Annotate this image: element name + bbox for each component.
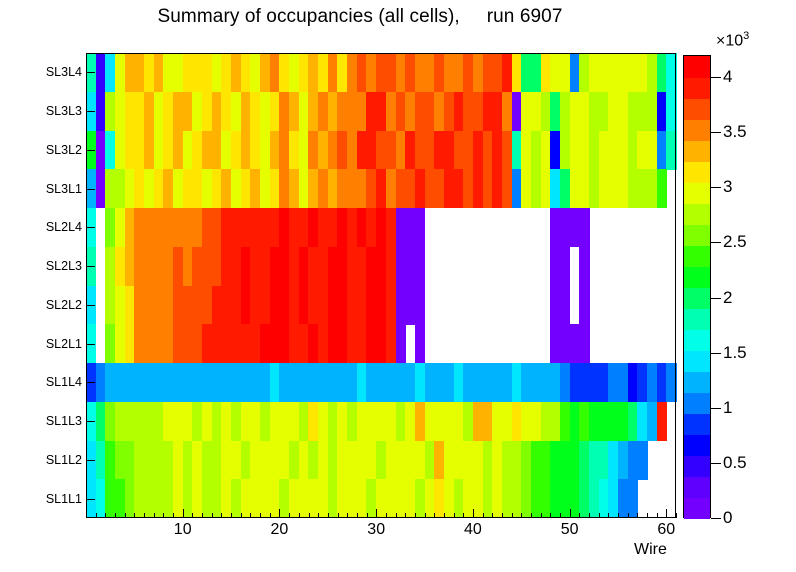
color-scale-tick [711,463,721,464]
y-axis-label: SL2L2 [46,298,82,312]
color-scale-band [684,435,710,457]
x-axis-tick [183,509,184,518]
color-scale-band [684,456,710,478]
color-scale-band [684,372,710,394]
heatmap-cell [657,169,667,208]
x-axis-tick [357,513,358,518]
y-axis-tick [86,72,95,73]
y-axis-label: SL2L1 [46,337,82,351]
color-scale-band [684,330,710,352]
x-axis-tick [144,513,145,518]
x-axis-tick [628,513,629,518]
color-scale-tick-label: 2.5 [723,232,747,252]
color-scale-band [684,224,710,246]
x-axis-tick [105,513,106,518]
y-axis-tick [86,499,95,500]
x-axis-title: Wire [634,541,667,559]
x-axis-tick [396,513,397,518]
y-axis-label: SL3L1 [46,182,82,196]
x-axis-tick [299,513,300,518]
y-axis-label: SL3L2 [46,143,82,157]
x-axis-tick [531,513,532,518]
color-scale-tick-label: 1.5 [723,343,747,363]
color-scale-tick [711,353,721,354]
color-scale-band [684,98,710,120]
x-axis-tick [637,513,638,518]
y-axis-label: SL3L4 [46,65,82,79]
x-axis-tick [415,513,416,518]
x-axis-tick [521,513,522,518]
x-axis-tick [608,513,609,518]
y-axis-tick [86,150,95,151]
heatmap-plot[interactable] [86,53,676,518]
x-axis-tick [589,513,590,518]
color-scale-tick [711,187,721,188]
heatmap-cell [666,92,676,131]
x-axis-tick [666,509,667,518]
x-axis-tick [444,513,445,518]
y-axis-label: SL2L4 [46,220,82,234]
x-axis-tick [309,513,310,518]
x-axis-tick-label: 30 [367,521,385,539]
color-scale-band [684,203,710,225]
x-axis-tick [115,513,116,518]
color-scale-band [684,56,710,78]
heatmap-cell [415,208,425,247]
color-scale-band [684,161,710,183]
y-axis-tick [86,460,95,461]
x-axis-tick [454,513,455,518]
heatmap-cell [579,286,589,325]
color-scale-tick-label: 2 [723,288,732,308]
root-canvas: Summary of occupancies (all cells), run … [0,0,796,572]
y-axis-tick [86,266,95,267]
page-title: Summary of occupancies (all cells), run … [0,6,720,28]
color-scale-tick-label: 3.5 [723,122,747,142]
x-axis-tick [647,513,648,518]
color-scale-tick [711,408,721,409]
x-axis-tick [492,513,493,518]
heatmap-cell [560,247,570,286]
y-axis-tick [86,344,95,345]
color-scale-tick [711,242,721,243]
x-axis-tick-label: 20 [270,521,288,539]
color-scale-tick-label: 1 [723,398,732,418]
x-axis-tick [231,513,232,518]
color-scale-exponent: ×103 [716,30,749,50]
heatmap-cell [579,208,589,247]
y-axis-tick [86,111,95,112]
x-axis-tick [570,509,571,518]
x-axis-tick [318,513,319,518]
heatmap-cell [415,324,425,363]
x-axis-tick [579,513,580,518]
x-axis-tick [599,513,600,518]
heatmap-cell [579,324,589,363]
y-axis: SL3L4SL3L3SL3L2SL3L1SL2L4SL2L3SL2L2SL2L1… [0,53,82,518]
color-scale-tick-label: 4 [723,67,732,87]
x-axis-tick [250,513,251,518]
x-axis-tick [212,513,213,518]
color-scale-band [684,393,710,415]
y-axis-tick [86,227,95,228]
y-axis-tick [86,189,95,190]
color-scale-band [684,119,710,141]
y-axis-label: SL1L3 [46,414,82,428]
y-axis-tick [86,421,95,422]
color-scale-band [684,266,710,288]
x-axis-tick [541,513,542,518]
x-axis-tick-label: 60 [657,521,675,539]
heatmap-cells [86,53,676,518]
x-axis-tick [338,513,339,518]
heatmap-cell [657,402,667,441]
x-axis-tick [405,513,406,518]
heatmap-cell [666,131,676,170]
x-axis-tick [154,513,155,518]
x-axis-tick [328,513,329,518]
x-axis-tick [289,513,290,518]
color-scale-band [684,245,710,267]
heatmap-cell [579,247,589,286]
x-axis-tick [618,513,619,518]
y-axis-label: SL1L2 [46,453,82,467]
x-axis-tick [279,509,280,518]
x-axis-tick [550,513,551,518]
x-axis-tick-label: 50 [561,521,579,539]
color-scale-tick-label: 0 [723,508,732,528]
heatmap-cell [396,324,406,363]
x-axis-tick [367,513,368,518]
heatmap-cell [666,53,676,92]
color-scale-tick [711,518,721,519]
x-axis-tick [270,513,271,518]
heatmap-cell [415,247,425,286]
x-axis-tick [376,509,377,518]
color-scale-tick-label: 3 [723,177,732,197]
color-scale-tick [711,298,721,299]
x-axis-tick [347,513,348,518]
x-axis-tick-label: 10 [174,521,192,539]
x-axis-tick-label: 40 [464,521,482,539]
color-scale-band [684,351,710,373]
x-axis-tick [192,513,193,518]
x-axis-tick [560,513,561,518]
x-axis-tick [241,513,242,518]
x-axis-tick [202,513,203,518]
heatmap-cell [666,363,676,402]
y-axis-tick [86,305,95,306]
color-scale-band [684,498,710,520]
y-axis-label: SL3L3 [46,104,82,118]
x-axis-tick [134,513,135,518]
color-scale-band [684,77,710,99]
x-axis-tick [386,513,387,518]
x-axis-tick [221,513,222,518]
x-axis-tick [502,513,503,518]
x-axis-tick [260,513,261,518]
color-scale-band [684,414,710,436]
color-scale-band [684,477,710,499]
y-axis-label: SL2L3 [46,259,82,273]
color-scale-tick [711,77,721,78]
x-axis-tick [473,509,474,518]
color-scale-band [684,140,710,162]
x-axis-tick [463,513,464,518]
x-axis-tick [425,513,426,518]
y-axis-label: SL1L4 [46,375,82,389]
x-axis-tick [657,513,658,518]
heatmap-cell [637,441,647,480]
x-axis-tick [512,513,513,518]
heatmap-cell [415,286,425,325]
color-scale-tick-label: 0.5 [723,453,747,473]
x-axis-tick [96,513,97,518]
y-axis-tick [86,382,95,383]
x-axis-tick [676,513,677,518]
x-axis-tick [434,513,435,518]
color-scale-band [684,309,710,331]
color-scale-tick [711,132,721,133]
y-axis-label: SL1L1 [46,492,82,506]
x-axis-tick [173,513,174,518]
x-axis-tick [125,513,126,518]
heatmap-cell [560,286,570,325]
color-scale-bar [683,55,711,518]
color-scale-band [684,288,710,310]
color-scale-band [684,182,710,204]
x-axis-tick [163,513,164,518]
x-axis-tick [483,513,484,518]
